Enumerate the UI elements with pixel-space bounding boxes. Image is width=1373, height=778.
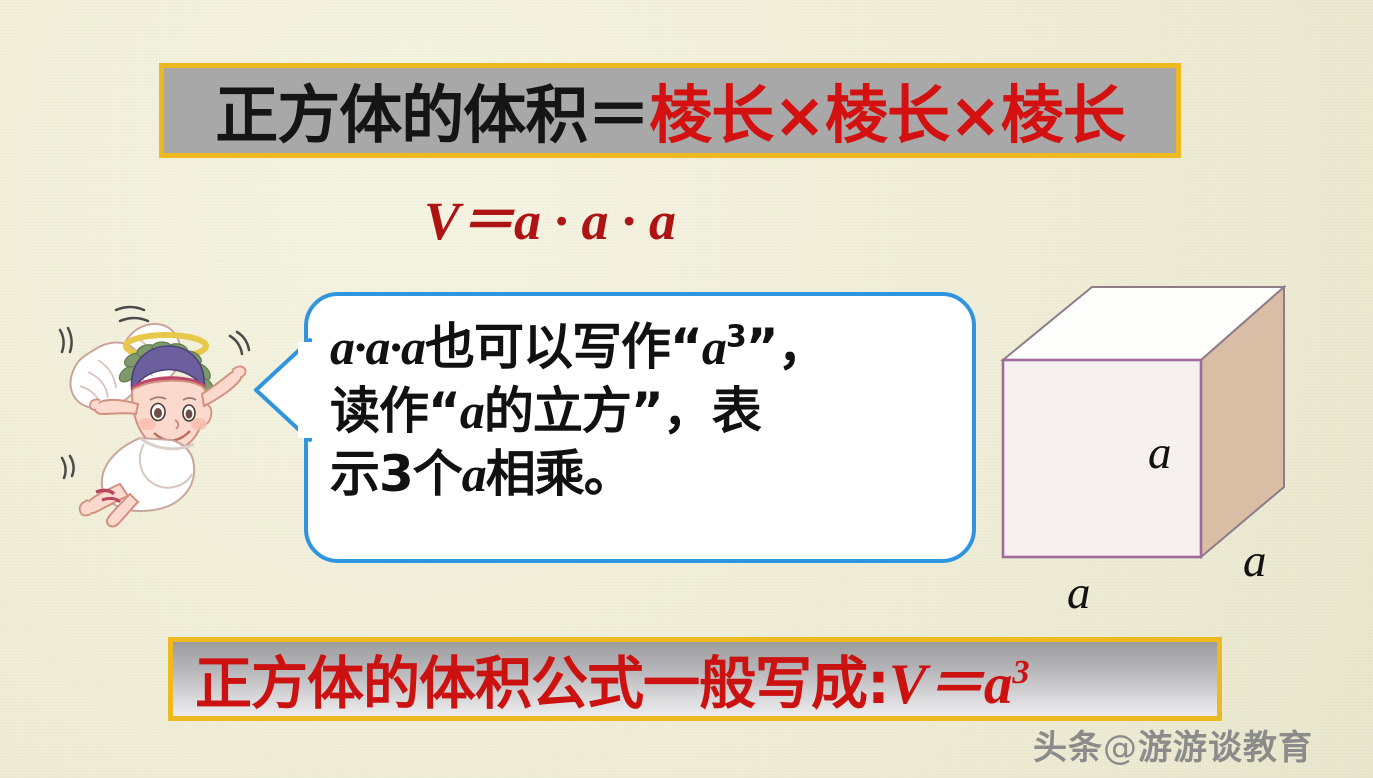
angel-cherub-illustration [44,288,274,538]
speech-bubble-text: a·a·a也可以写作“a3”， 读作“a的立方”，表 示3个a相乘。 [330,316,960,507]
watermark-prefix: 头条 [1033,728,1103,768]
speech-bubble-tail-icon [252,336,312,446]
cube-label-bottom: a [1067,566,1091,620]
volume-formula-expanded: V＝a · a · a [0,176,1100,255]
background-texture-mark: · [220,255,224,270]
bubble-line3-var: a [462,446,486,502]
watermark: 头条@游游谈教育 [1033,720,1313,769]
bubble-line-2: 读作“a的立方”，表 [330,380,960,444]
bubble-line1-tail: ”， [746,318,827,376]
bubble-line-1: a·a·a也可以写作“a3”， [330,316,960,380]
bubble-line1-var: a [702,319,726,375]
bottom-banner-text: 正方体的体积公式一般写成: [173,638,889,720]
bottom-banner: 正方体的体积公式一般写成:V＝a3 [168,637,1222,721]
bottom-formula-exponent: 3 [1012,654,1029,691]
bottom-formula-base: V＝a [889,653,1013,716]
cube-label-front: a [1148,426,1172,480]
bubble-line3-text: 相乘。 [486,445,633,503]
watermark-handle: 游游谈教育 [1138,728,1313,768]
slide-canvas: · · 正方体的体积＝棱长×棱长×棱长 V＝a · a · a [0,0,1373,778]
bubble-line1-text: 也可以写作“ [425,318,702,376]
bottom-banner-formula: V＝a3 [889,638,1030,720]
title-black-text: 正方体的体积＝ [215,65,649,156]
bubble-line-3: 示3个a相乘。 [330,443,960,507]
bubble-line2-var: a [460,383,484,439]
bubble-line2-prefix: 读作“ [330,382,460,440]
bubble-line1-math: a·a·a [330,319,425,375]
bubble-line2-text: 的立方”，表 [484,382,761,440]
cube-label-side: a [1243,534,1267,588]
bubble-line3-prefix: 示3个 [330,445,462,503]
title-red-text: 棱长×棱长×棱长 [649,65,1125,156]
speech-bubble: a·a·a也可以写作“a3”， 读作“a的立方”，表 示3个a相乘。 [304,292,976,563]
title-banner: 正方体的体积＝棱长×棱长×棱长 [159,63,1181,158]
bubble-line1-exponent: 3 [726,319,746,354]
watermark-at-icon: @ [1103,728,1138,768]
